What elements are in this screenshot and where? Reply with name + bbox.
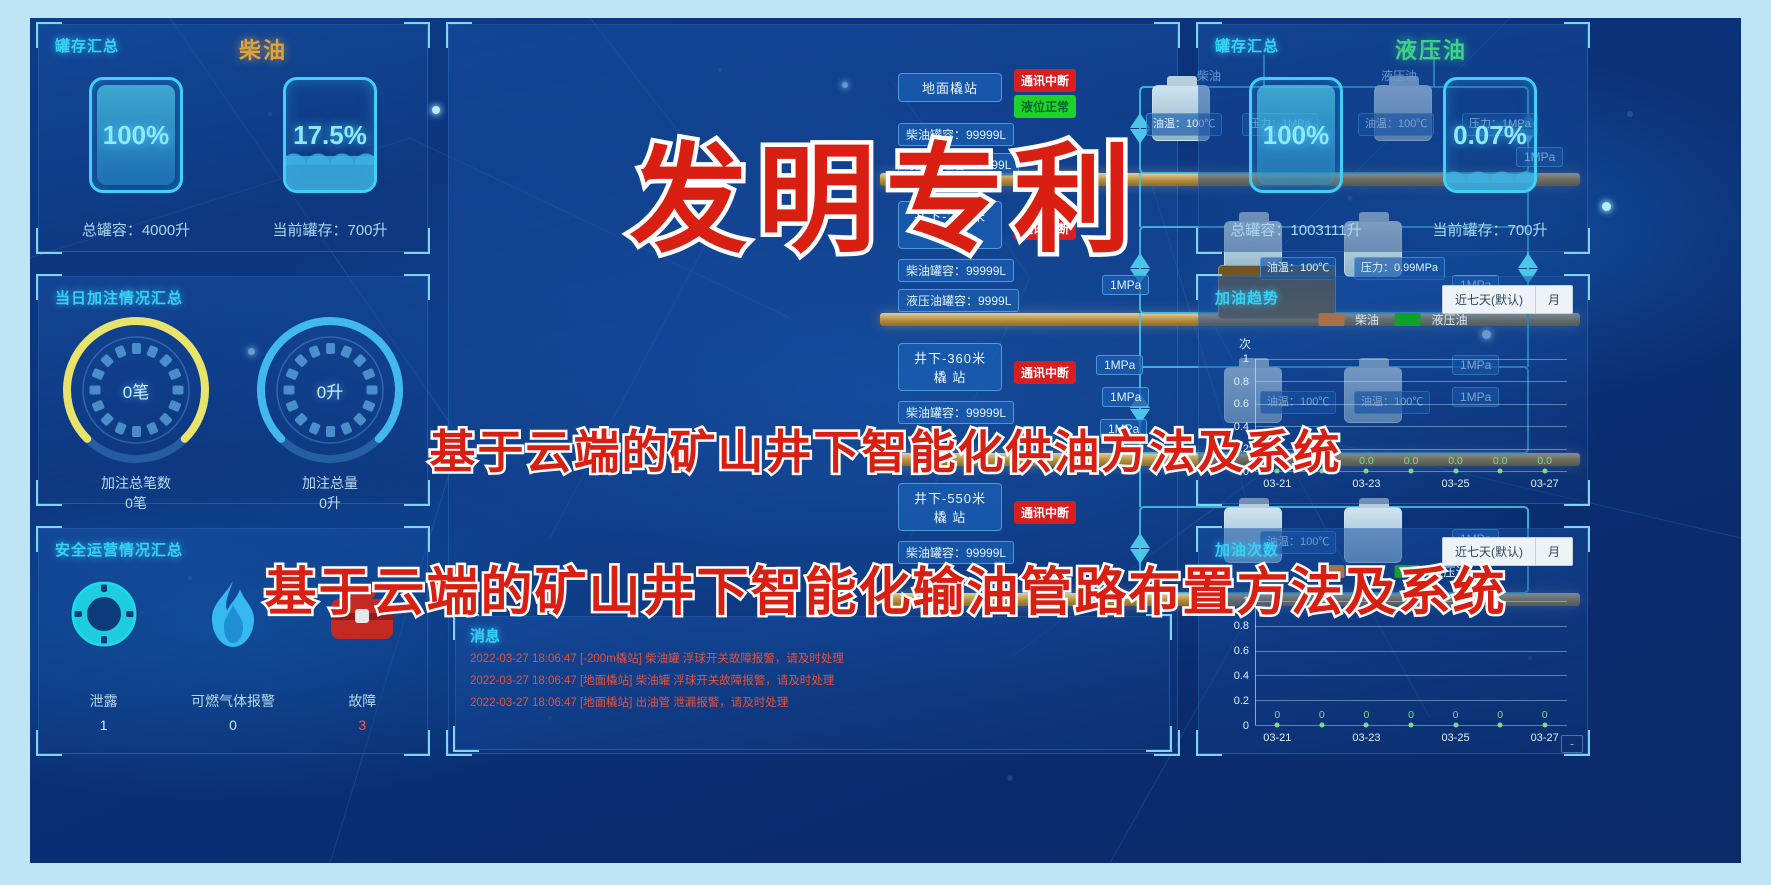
y-tick-label: 0.6: [1234, 398, 1249, 410]
safety-count-fault: 3: [358, 717, 366, 733]
dashboard-screen: 罐存汇总 柴油 100% 总罐容：4000升 17.5% 当前罐存：700升 当…: [30, 18, 1741, 863]
x-tick-label: 03-25: [1441, 478, 1469, 490]
data-point-label: 0.0: [1493, 455, 1508, 467]
gridline: 0.2: [1255, 700, 1567, 701]
leak-icon: [65, 575, 143, 653]
data-point: [1275, 723, 1280, 728]
data-point-label: 0: [1408, 709, 1414, 721]
panel-diesel-tank-summary: 罐存汇总 柴油 100% 总罐容：4000升 17.5% 当前罐存：700升: [38, 24, 428, 252]
y-tick-label: 0.6: [1234, 645, 1249, 657]
pressure-tag: 1MPa: [1102, 275, 1149, 295]
donut-caption-count-line2: 0笔: [101, 493, 171, 513]
safety-label-gas: 可燃气体报警: [191, 691, 275, 711]
pressure-tag: 1MPa: [1102, 387, 1149, 407]
safety-item-leak[interactable]: 泄露 1: [39, 575, 168, 733]
x-tick-label: 03-27: [1531, 478, 1559, 490]
donut-shape-volume: 0升: [255, 315, 405, 465]
tank-fill-wave: [1446, 174, 1534, 190]
donut-caption-count-line1: 加注总笔数: [101, 473, 171, 493]
panel-title-diesel-tank: 罐存汇总: [55, 35, 119, 56]
panel-title-messages: 消息: [470, 625, 500, 646]
panel-title-trend: 加油趋势: [1215, 287, 1279, 308]
data-point-label: 0.0: [1537, 455, 1552, 467]
donut-value-count: 0笔: [61, 315, 211, 465]
data-point: [1542, 469, 1547, 474]
tank-gauge-total: 100% 总罐容：1003111升: [1199, 77, 1393, 240]
x-tick-label: 03-27: [1531, 732, 1559, 744]
data-point-label: 0: [1274, 709, 1280, 721]
data-point: [1364, 723, 1369, 728]
legend-label-hydraulic: 液压油: [1431, 313, 1467, 327]
tank-shape-total: 100%: [1249, 77, 1343, 193]
data-point: [1364, 469, 1369, 474]
y-tick-label: 0.2: [1234, 695, 1249, 707]
tank-fill-wave: [286, 156, 374, 190]
data-point-label: 0: [1497, 709, 1503, 721]
donut-gauge-volume: 0升 加注总量 0升: [233, 315, 427, 514]
x-tick-label: 03-21: [1263, 732, 1291, 744]
tank-caption-total: 总罐容：1003111升: [1230, 219, 1361, 240]
tank-caption-total: 总罐容：4000升: [82, 219, 190, 240]
hydraulic-tank-gauges: 100% 总罐容：1003111升 0.07% 当前罐存：700升: [1199, 77, 1587, 240]
tank-percent-total: 100%: [103, 120, 170, 151]
data-point: [1453, 723, 1458, 728]
legend-item-hydraulic[interactable]: 液压油: [1395, 311, 1467, 329]
tank-caption-current: 当前罐存：700升: [272, 219, 387, 240]
diesel-tank-gauges: 100% 总罐容：4000升 17.5% 当前罐存：700升: [39, 77, 427, 240]
gridline: 0.6: [1255, 404, 1567, 405]
panel-title-today-refuel: 当日加注情况汇总: [55, 287, 183, 308]
legend-swatch-hydraulic: [1395, 313, 1421, 326]
legend-swatch-diesel: [1319, 313, 1345, 326]
watermark-main: 发明专利: [629, 104, 1141, 275]
data-point: [1542, 723, 1547, 728]
data-point: [1453, 469, 1458, 474]
gridline: 0.8: [1255, 381, 1567, 382]
donut-caption-volume: 加注总量 0升: [302, 473, 358, 514]
donut-caption-volume-line1: 加注总量: [302, 473, 358, 493]
x-tick-label: 03-25: [1441, 732, 1469, 744]
refuel-donut-gauges: 0笔 加注总笔数 0笔 0升 加注总量: [39, 315, 427, 514]
trend-range-toggle[interactable]: 近七天(默认) 月: [1442, 285, 1573, 314]
data-point-label: 0: [1453, 709, 1459, 721]
safety-count-gas: 0: [229, 717, 237, 733]
legend-item-diesel[interactable]: 柴油: [1319, 311, 1379, 329]
message-item[interactable]: 2022-03-27 18:06:47 [地面橇站] 出油管 泄漏报警，请及时处…: [470, 693, 1157, 715]
y-tick-label: 1: [1243, 353, 1249, 365]
data-point: [1498, 723, 1503, 728]
safety-label-fault: 故障: [348, 691, 376, 711]
tank-shape-current: 17.5%: [283, 77, 377, 193]
x-tick-label: 03-23: [1352, 478, 1380, 490]
watermark-patent-title-2: 基于云端的矿山井下智能化输油管路布置方法及系统: [264, 550, 1506, 625]
data-point: [1409, 469, 1414, 474]
flame-icon: [194, 575, 272, 653]
panel-messages: 消息 2022-03-27 18:06:47 [-200m橇站] 柴油罐 浮球开…: [455, 616, 1170, 750]
data-point-label: 0: [1364, 709, 1370, 721]
glow-star: [1602, 202, 1611, 211]
data-point-label: 0: [1542, 709, 1548, 721]
data-point-label: 0: [1319, 709, 1325, 721]
y-tick-label: 0.4: [1234, 670, 1249, 682]
panel-title-safety: 安全运营情况汇总: [55, 539, 183, 560]
panel-subtitle-hydraulic: 液压油: [1395, 33, 1467, 65]
pressure-tag: 1MPa: [1096, 355, 1143, 375]
data-point: [1319, 723, 1324, 728]
message-item[interactable]: 2022-03-27 18:06:47 [地面橇站] 柴油罐 浮球开关故障报警，…: [470, 671, 1157, 693]
panel-title-hydraulic-tank: 罐存汇总: [1215, 35, 1279, 56]
legend-label-diesel: 柴油: [1355, 313, 1379, 327]
x-tick-label: 03-23: [1352, 732, 1380, 744]
donut-caption-volume-line2: 0升: [302, 493, 358, 513]
gridline: 0.8: [1255, 626, 1567, 627]
tank-gauge-current: 0.07% 当前罐存：700升: [1393, 77, 1587, 240]
y-tick-label: 0: [1243, 720, 1249, 732]
tank-percent-current: 0.07%: [1453, 120, 1527, 151]
tank-shape-total: 100%: [89, 77, 183, 193]
glow-star: [432, 106, 440, 114]
gridline: 1: [1255, 359, 1567, 360]
panel-hydraulic-tank-summary: 罐存汇总 液压油 100% 总罐容：1003111升 0.07% 当前罐存：70…: [1198, 24, 1588, 252]
data-point-label: 0.0: [1359, 455, 1374, 467]
tank-caption-current: 当前罐存：700升: [1432, 219, 1547, 240]
trend-range-week[interactable]: 近七天(默认): [1443, 286, 1535, 313]
donut-gauge-count: 0笔 加注总笔数 0笔: [39, 315, 233, 514]
count-range-month[interactable]: 月: [1535, 538, 1572, 565]
tank-percent-current: 17.5%: [293, 120, 367, 151]
panel-subtitle-diesel: 柴油: [239, 33, 287, 65]
gridline: 0.6: [1255, 651, 1567, 652]
panel-today-refuel-summary: 当日加注情况汇总 0笔 加注总笔数 0笔: [38, 276, 428, 504]
message-item[interactable]: 2022-03-27 18:06:47 [-200m橇站] 柴油罐 浮球开关故障…: [470, 649, 1157, 671]
trend-legend: 柴油 液压油: [1319, 311, 1468, 329]
gridline: 0.4: [1255, 675, 1567, 676]
data-point: [1498, 469, 1503, 474]
tank-gauge-current: 17.5% 当前罐存：700升: [233, 77, 427, 240]
data-point-label: 0.0: [1404, 455, 1419, 467]
donut-value-volume: 0升: [255, 315, 405, 465]
donut-shape-count: 0笔: [61, 315, 211, 465]
safety-label-leak: 泄露: [90, 691, 118, 711]
tank-shape-current: 0.07%: [1443, 77, 1537, 193]
data-point-label: 0.0: [1448, 455, 1463, 467]
donut-caption-count: 加注总笔数 0笔: [101, 473, 171, 514]
tank-gauge-total: 100% 总罐容：4000升: [39, 77, 233, 240]
message-list[interactable]: 2022-03-27 18:06:47 [-200m橇站] 柴油罐 浮球开关故障…: [470, 649, 1157, 715]
tank-percent-total: 100%: [1263, 120, 1330, 151]
trend-y-axis-label: 次: [1239, 335, 1251, 352]
watermark-patent-title-1: 基于云端的矿山井下智能化供油方法及系统: [430, 416, 1342, 482]
safety-count-leak: 1: [100, 717, 108, 733]
y-tick-label: 0.8: [1234, 376, 1249, 388]
data-point: [1409, 723, 1414, 728]
trend-range-month[interactable]: 月: [1535, 286, 1572, 313]
